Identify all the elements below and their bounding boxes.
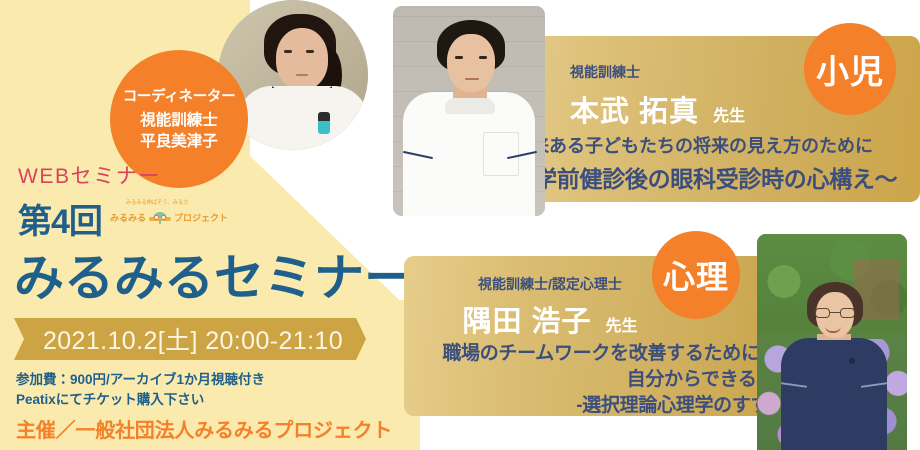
- date-ribbon: 2021.10.2[土] 20:00-21:10: [14, 318, 366, 360]
- speaker-2-button-icon: [849, 358, 855, 364]
- edition-number: 第4回: [18, 194, 102, 243]
- speaker-1-pocket: [483, 132, 519, 176]
- speaker-1-mouth: [465, 78, 479, 80]
- speaker-1-role: 視能訓練士: [570, 62, 640, 82]
- coordinator-face: [276, 28, 328, 90]
- coordinator-eye-right: [306, 50, 314, 53]
- coordinator-badge-pin-icon: [318, 112, 330, 134]
- fee-info: 参加費：900円/アーカイブ1か月視聴付き Peatixにてチケット購入下さい: [16, 370, 265, 409]
- speaker-2-topic-line-2: 自分からできること: [408, 364, 794, 391]
- logo-word-left: みるみる: [110, 211, 146, 224]
- coordinator-title: 視能訓練士: [140, 111, 218, 131]
- logo-tagline: みるみる伸ばそう、みる力: [126, 199, 188, 207]
- speaker-1-honorific: 先生: [713, 102, 745, 126]
- speaker-2-honorific: 先生: [606, 312, 638, 336]
- speaker-2-name: 隅田 浩子: [462, 298, 591, 340]
- coordinator-uniform: [238, 86, 368, 150]
- speaker-1-face: [447, 34, 495, 92]
- fee-line-1: 参加費：900円/アーカイブ1か月視聴付き: [16, 370, 265, 390]
- fee-line-2: Peatixにてチケット購入下さい: [16, 390, 265, 410]
- speaker-1-name: 本武 拓真: [570, 88, 699, 130]
- logo-wordmark: みるみる プロジェクト: [110, 211, 210, 224]
- logo-word-right: プロジェクト: [174, 211, 228, 224]
- logo-hat-icon: [149, 211, 171, 224]
- speaker-1-category-badge: 小児: [804, 23, 896, 115]
- speaker-2-category-badge: 心理: [652, 231, 740, 319]
- coordinator-name: 平良美津子: [140, 132, 218, 152]
- speaker-2-nameline: 隅田 浩子 先生: [404, 298, 696, 340]
- speaker-1-collar: [445, 98, 495, 114]
- mirumiru-project-logo: みるみる伸ばそう、みる力 みるみる プロジェクト: [110, 199, 210, 233]
- speaker-1-nameline: 本武 拓真 先生: [570, 88, 745, 130]
- page-title: みるみるセミナー: [14, 238, 414, 310]
- speaker-1-eye-left: [455, 56, 463, 59]
- speaker-2-photo: [757, 234, 907, 450]
- speaker-2-panel: 視能訓練士/認定心理士 隅田 浩子 先生 職場のチームワークを改善するために 自…: [404, 256, 800, 416]
- speaker-2-topic-line-1: 職場のチームワークを改善するために: [408, 338, 794, 365]
- speaker-2-glasses-icon: [815, 308, 855, 318]
- speaker-1-photo: [393, 6, 545, 216]
- web-seminar-label: WEBセミナー: [18, 160, 161, 190]
- speaker-1-eye-right: [479, 56, 487, 59]
- speaker-2-topic-line-3: -選択理論心理学のすすめ-: [408, 390, 794, 417]
- coordinator-mouth: [296, 74, 308, 76]
- host-organization: 主催／一般社団法人みるみるプロジェクト: [16, 414, 392, 443]
- webinar-banner: コーディネーター 視能訓練士 平良美津子 WEBセミナー 第4回 みるみる伸ばそ…: [0, 0, 920, 450]
- date-time-text: 2021.10.2[土] 20:00-21:10: [37, 321, 343, 357]
- coordinator-eye-left: [284, 50, 292, 53]
- coordinator-role-label: コーディネーター: [123, 88, 236, 107]
